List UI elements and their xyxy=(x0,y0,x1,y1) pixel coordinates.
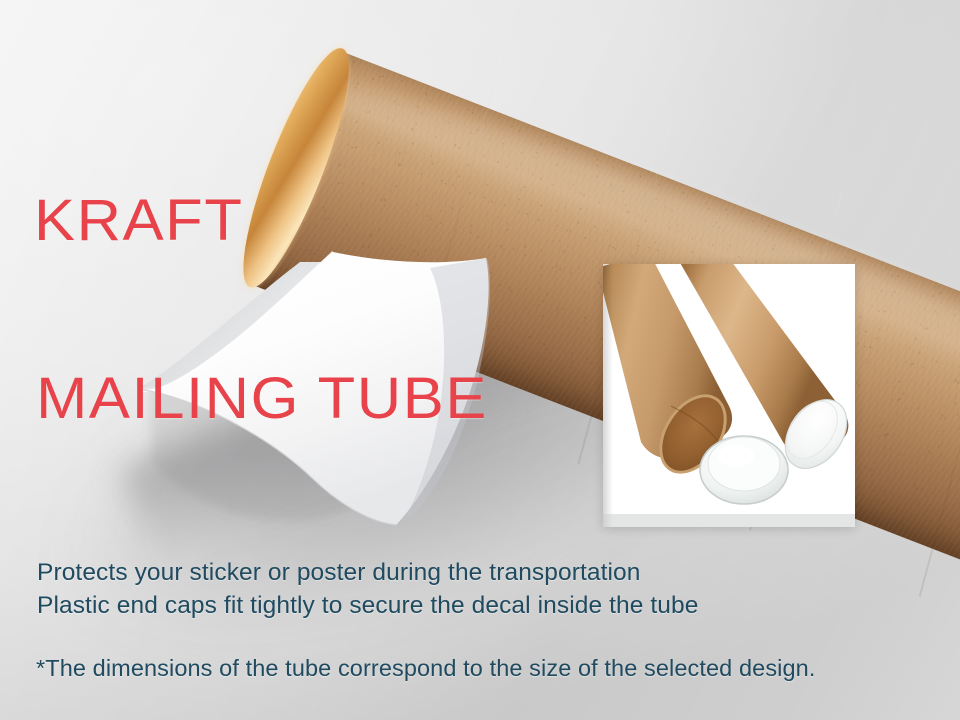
feature-line-1: Protects your sticker or poster during t… xyxy=(37,557,698,590)
inset-loose-end-cap xyxy=(700,436,788,504)
feature-line-2: Plastic end caps fit tightly to secure t… xyxy=(37,590,698,623)
page-title: KRAFT MAILING TUBE xyxy=(34,73,488,546)
product-banner: KRAFT MAILING TUBE Protects your sticker… xyxy=(0,0,960,720)
title-line-2: MAILING TUBE xyxy=(36,369,488,428)
title-line-1: KRAFT xyxy=(34,191,488,250)
inset-product-photo xyxy=(603,264,855,527)
feature-list: Protects your sticker or poster during t… xyxy=(37,557,698,622)
footnote-text: *The dimensions of the tube correspond t… xyxy=(36,655,815,682)
